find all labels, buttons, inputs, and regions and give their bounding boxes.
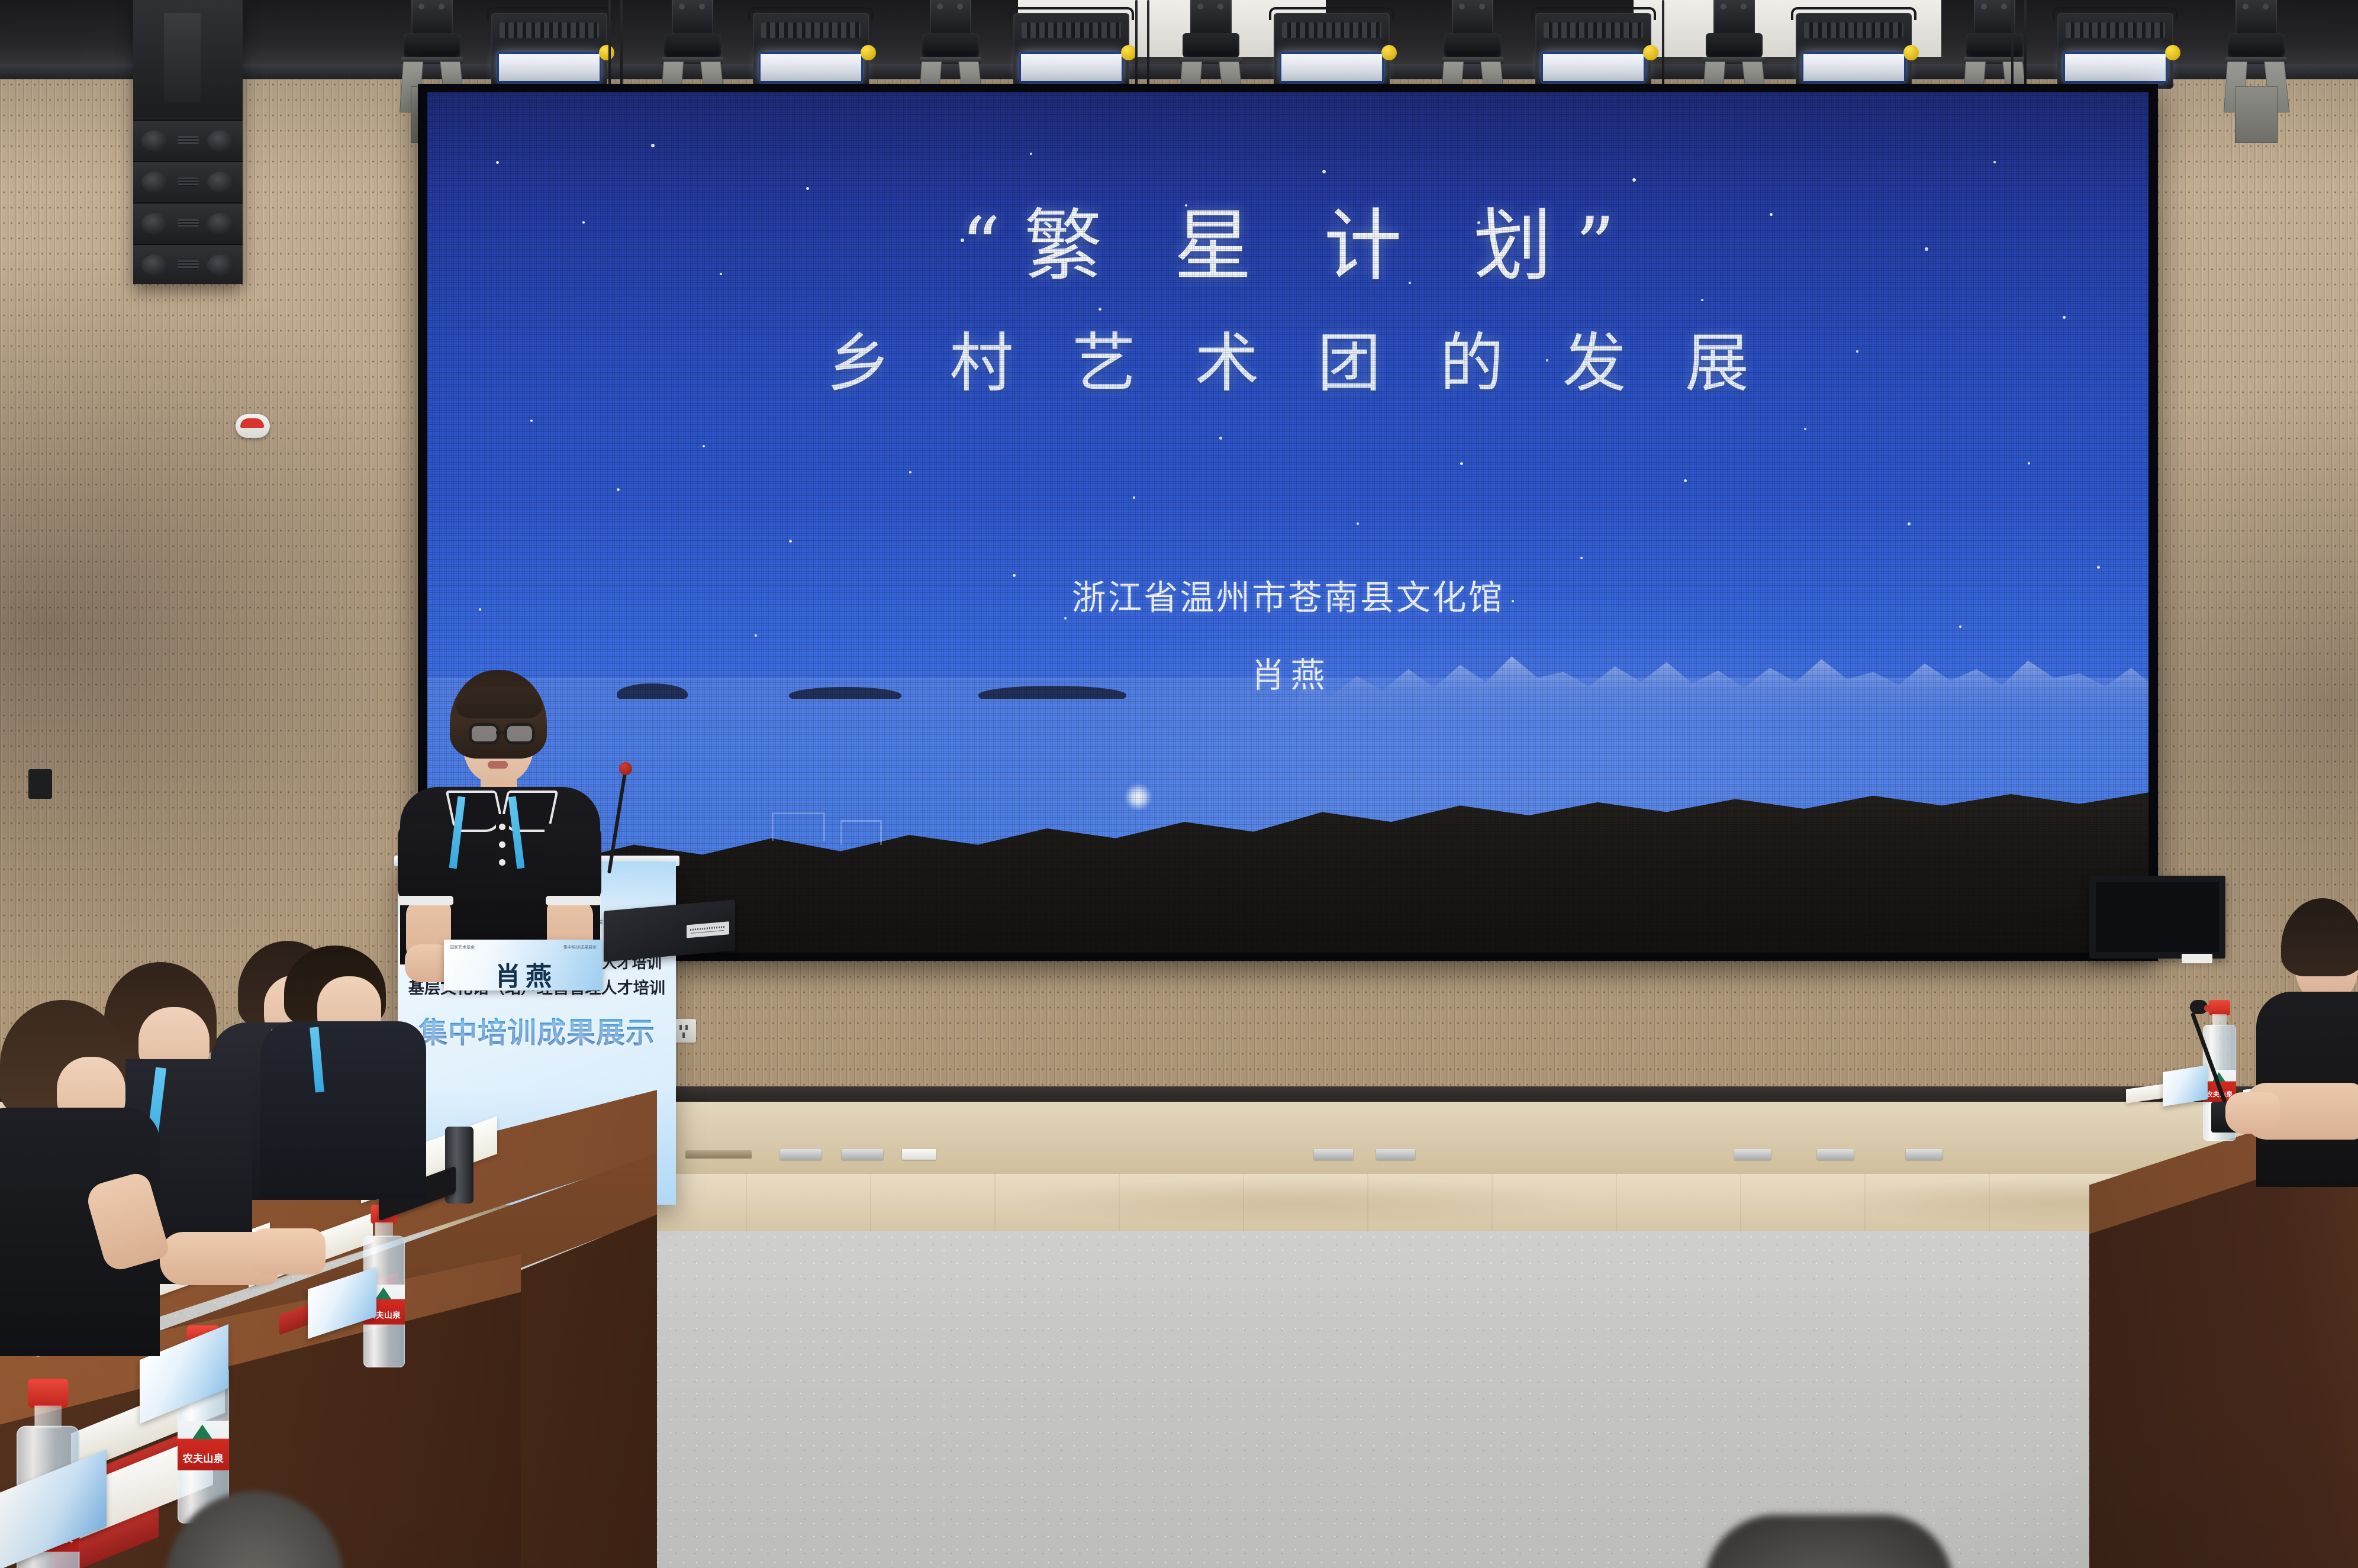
speaker-module	[133, 120, 243, 160]
right-attendee-hand	[2225, 1092, 2280, 1134]
power-cable	[608, 0, 611, 95]
stage-floor-box	[1376, 1149, 1415, 1160]
bottle-neck	[34, 1406, 62, 1428]
foreground-head-silhouette	[1705, 1515, 1953, 1568]
subwoofer-cabinet	[133, 0, 243, 118]
power-cable	[1147, 0, 1149, 93]
speaker-mouth	[488, 761, 508, 769]
nameplate-sub-right: 集中培训成果展示	[563, 946, 597, 950]
stage-floor-box	[1734, 1149, 1771, 1160]
emergency-alarm-icon	[236, 414, 270, 438]
microphone-indicator-light	[2204, 1005, 2211, 1012]
glasses-bridge	[496, 731, 505, 734]
audience-hand	[249, 1228, 326, 1275]
line-array-speaker-stack	[133, 0, 243, 284]
led-panel-light-icon	[753, 13, 869, 89]
slide-pier-structure	[840, 820, 882, 845]
speaker-cuff-right	[546, 896, 601, 905]
wall-panel	[28, 769, 52, 799]
shirt-button	[499, 859, 505, 866]
bottle-neck	[375, 1222, 393, 1237]
bottle-cap	[28, 1379, 68, 1408]
stage-floor-slot	[685, 1150, 752, 1159]
shirt-button	[499, 841, 505, 848]
stage-floor-box	[780, 1149, 822, 1160]
led-panel-light-icon	[1535, 13, 1651, 89]
stage-floor-box	[1906, 1149, 1943, 1160]
laptop-label	[687, 921, 729, 938]
monitor-label	[2182, 954, 2212, 963]
led-panel-light-icon	[2057, 13, 2173, 89]
lectern-nameplate: 国家艺术基金 集中培训成果展示 肖燕	[444, 940, 603, 991]
speaker-sleeve-right	[545, 824, 601, 904]
nameplate-sub-left: 国家艺术基金	[450, 946, 475, 950]
speaker-fringe	[456, 686, 542, 718]
conference-hall-photo: “繁 星 计 划” 乡 村 艺 术 团 的 发 展 浙江省温州市苍南县文化馆 肖…	[0, 0, 2358, 1568]
speaker-module	[133, 161, 243, 201]
stage-floor-box	[902, 1149, 936, 1160]
bottle-cap	[2209, 1000, 2230, 1015]
slide-light-source	[1125, 783, 1152, 811]
led-panel-light-icon	[1274, 13, 1390, 89]
slide-pier-structure	[772, 812, 825, 841]
stage-floor-box	[1314, 1149, 1353, 1160]
power-cable	[1662, 0, 1664, 89]
glasses-icon	[504, 723, 535, 744]
speaker-cuff-left	[398, 896, 453, 905]
nameplate-header: 国家艺术基金 集中培训成果展示	[450, 943, 597, 953]
power-cable	[620, 0, 623, 89]
shirt-button	[499, 824, 505, 830]
bottle-brand-text: 农夫山泉	[178, 1451, 229, 1466]
led-panel-light-icon	[1013, 13, 1129, 89]
glasses-icon	[469, 723, 500, 744]
led-screen-surface: “繁 星 计 划” 乡 村 艺 术 团 的 发 展 浙江省温州市苍南县文化馆 肖…	[427, 92, 2148, 953]
speaker-sleeve-left	[398, 824, 455, 904]
bottle-label: 农夫山泉	[178, 1421, 229, 1470]
led-panel-light-icon	[491, 13, 607, 89]
bottle-neck	[2212, 1014, 2227, 1026]
stage-floor-box	[1817, 1149, 1854, 1160]
speaker-module	[133, 202, 243, 243]
wall-outlet-icon	[672, 1019, 696, 1043]
wall-monitor	[2089, 876, 2225, 959]
name-tent-card	[2163, 1065, 2208, 1106]
led-video-wall: “繁 星 计 划” 乡 村 艺 术 团 的 发 展 浙江省温州市苍南县文化馆 肖…	[418, 84, 2158, 961]
power-cable	[2024, 0, 2027, 86]
nameplate-name: 肖燕	[444, 955, 603, 993]
led-panel-light-icon	[1796, 13, 1912, 89]
microphone-icon	[619, 762, 632, 775]
stage-floor-box	[842, 1149, 883, 1160]
slide-island	[978, 686, 1126, 699]
slide-island	[789, 687, 901, 699]
banner-headline: 集中培训成果展示	[404, 1009, 670, 1051]
power-cable	[2011, 0, 2014, 97]
speaker-module	[133, 244, 243, 284]
